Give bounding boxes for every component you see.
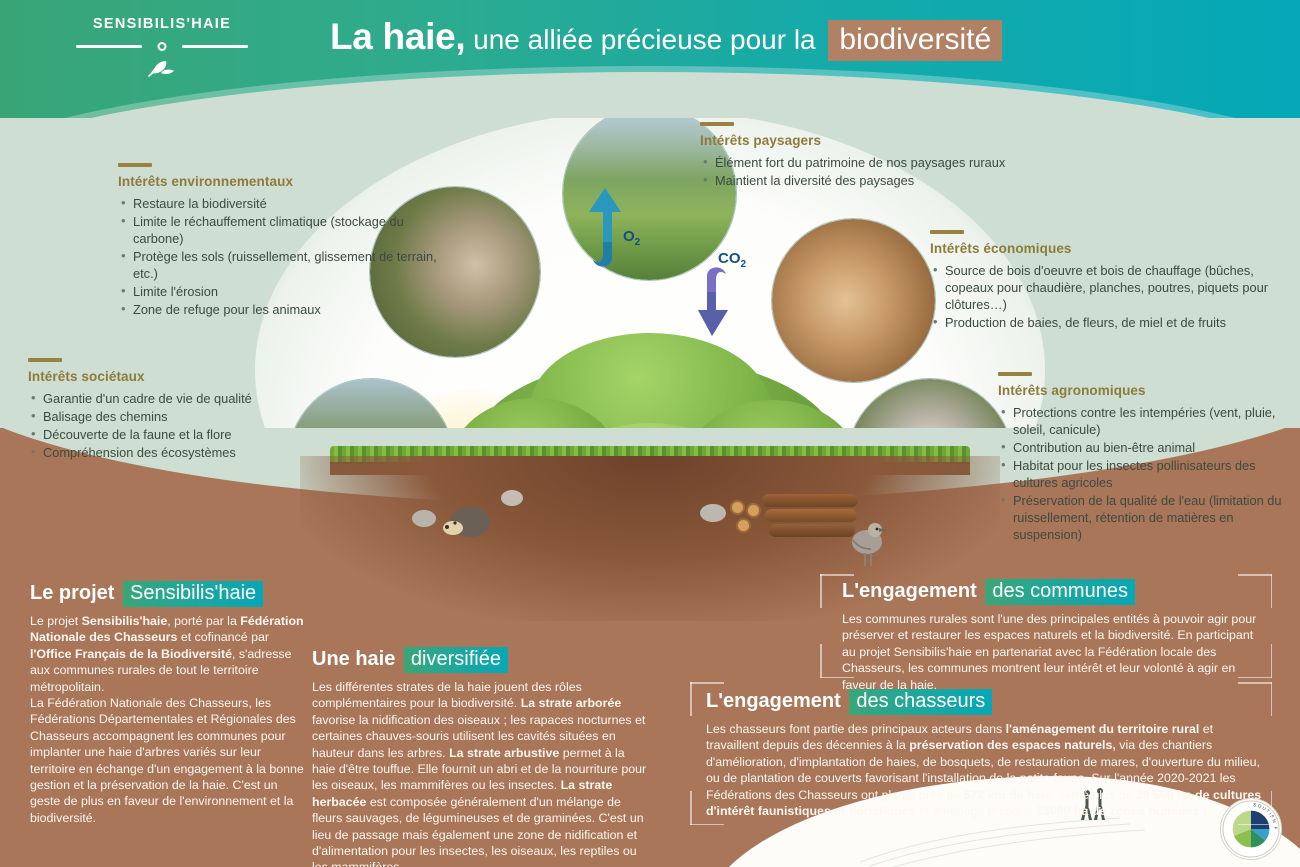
heading-highlight: diversifiée	[404, 647, 508, 673]
stone-3	[700, 504, 726, 522]
accent-bar	[700, 122, 734, 126]
frame-corner-br-v	[1271, 791, 1273, 825]
list-item: Limite l'érosion	[118, 283, 448, 300]
rule-dot-icon	[158, 42, 167, 51]
block-body: Les communes rurales sont l'une des prin…	[842, 611, 1267, 693]
o2-label: O2	[623, 228, 640, 248]
list-item: Balisage des chemins	[28, 408, 328, 425]
list-item: Source de bois d'oeuvre et bois de chauf…	[930, 262, 1275, 313]
list-item: Préservation de la qualité de l'eau (lim…	[998, 492, 1288, 543]
photo-cut-logs-image	[772, 219, 935, 382]
heading-lead: Le projet	[30, 582, 114, 604]
block-interets-agronomiques: Intérêts agronomiques Protections contre…	[998, 372, 1288, 544]
block-heading: Le projet Sensibilis'haie	[30, 582, 308, 605]
block-une-haie-diversifiee: Une haie diversifiée Les différentes str…	[312, 648, 647, 867]
block-list: Élément fort du patrimoine de nos paysag…	[700, 154, 1040, 189]
list-item: Élément fort du patrimoine de nos paysag…	[700, 154, 1040, 171]
list-item: Contribution au bien-être animal	[998, 439, 1288, 456]
block-engagement-chasseurs: L'engagement des chasseurs Les chasseurs…	[706, 690, 1262, 819]
block-interets-societaux: Intérêts sociétaux Garantie d'un cadre d…	[28, 358, 328, 462]
heading-lead: Une haie	[312, 648, 395, 670]
list-item: Compréhension des écosystèmes	[28, 444, 328, 461]
accent-bar	[930, 230, 964, 234]
brand-logo: SENSIBILIS'HAIE	[62, 16, 262, 82]
log-ends	[730, 500, 764, 536]
block-le-projet: Le projet Sensibilis'haie Le projet Sens…	[30, 582, 308, 826]
block-list: Restaure la biodiversité Limite le récha…	[118, 195, 448, 318]
frame-corner-bl-v	[820, 644, 822, 678]
page-header: SENSIBILIS'HAIE La haie, une alliée préc…	[0, 0, 1300, 118]
list-item: Protège les sols (ruissellement, glissem…	[118, 248, 448, 282]
block-list: Garantie d'un cadre de vie de qualité Ba…	[28, 390, 328, 461]
block-heading: L'engagement des communes	[842, 580, 1267, 603]
list-item: Découverte de la faune et la flore	[28, 426, 328, 443]
block-body: Le projet Sensibilis'haie, porté par la …	[30, 613, 308, 826]
block-title: Intérêts économiques	[930, 241, 1275, 256]
block-title: Intérêts environnementaux	[118, 174, 448, 189]
frame-corner-tl-v	[820, 574, 822, 608]
list-item: Zone de refuge pour les animaux	[118, 301, 448, 318]
frame-corner-tr-h	[1238, 574, 1272, 576]
block-interets-paysagers: Intérêts paysagers Élément fort du patri…	[700, 122, 1040, 190]
title-highlight: biodiversité	[828, 20, 1002, 61]
block-title: Intérêts sociétaux	[28, 369, 328, 384]
heading-highlight: des communes	[985, 579, 1135, 605]
list-item: Restaure la biodiversité	[118, 195, 448, 212]
frame-corner-tr-v	[1271, 682, 1273, 716]
block-body: Les différentes strates de la haie jouen…	[312, 679, 647, 867]
frame-corner-tl-v	[690, 682, 692, 716]
frame-corner-tl-h	[820, 574, 854, 576]
block-list: Source de bois d'oeuvre et bois de chauf…	[930, 262, 1275, 331]
stone-1	[412, 510, 436, 527]
frame-corner-br-v	[1271, 644, 1273, 678]
leaf-icon	[62, 58, 262, 82]
heading-highlight: Sensibilis'haie	[123, 581, 263, 607]
block-list: Protections contre les intempéries (vent…	[998, 404, 1288, 543]
block-heading: Une haie diversifiée	[312, 648, 647, 671]
rule-right	[182, 45, 248, 48]
rule-left	[76, 45, 142, 48]
page-title: La haie, une alliée précieuse pour la bi…	[330, 16, 1002, 58]
photo-cut-logs	[771, 218, 936, 383]
accent-bar	[998, 372, 1032, 376]
list-item: Garantie d'un cadre de vie de qualité	[28, 390, 328, 407]
infographic-root: SENSIBILIS'HAIE La haie, une alliée préc…	[0, 0, 1300, 867]
heading-lead: L'engagement	[706, 690, 841, 712]
brand-name: SENSIBILIS'HAIE	[62, 16, 262, 32]
frame-corner-br-h	[1238, 824, 1272, 826]
list-item: Production de baies, de fleurs, de miel …	[930, 314, 1275, 331]
co2-arrow-group: CO2	[690, 258, 750, 348]
log-pile	[762, 494, 858, 540]
list-item: Maintient la diversité des paysages	[700, 172, 1040, 189]
brand-rule	[62, 41, 262, 51]
list-item: Protections contre les intempéries (vent…	[998, 404, 1288, 438]
title-rest: une alliée précieuse pour la	[465, 24, 823, 55]
block-title: Intérêts agronomiques	[998, 383, 1288, 398]
block-engagement-communes: L'engagement des communes Les communes r…	[842, 580, 1267, 693]
frame-corner-tr-v	[1271, 574, 1273, 608]
title-bold: La haie,	[330, 16, 465, 57]
accent-bar	[118, 163, 152, 167]
heading-lead: L'engagement	[842, 580, 977, 602]
block-body: Les chasseurs font partie des principaux…	[706, 721, 1262, 819]
leaf-icon-svg	[147, 58, 177, 78]
block-interets-environnementaux: Intérêts environnementaux Restaure la bi…	[118, 163, 448, 319]
hedgehog-icon	[440, 498, 500, 540]
frame-corner-bl-v	[690, 791, 692, 825]
block-title: Intérêts paysagers	[700, 133, 1040, 148]
heading-highlight: des chasseurs	[849, 689, 992, 715]
accent-bar	[28, 358, 62, 362]
list-item: Habitat pour les insectes pollinisateurs…	[998, 457, 1288, 491]
co2-label: CO2	[718, 250, 746, 270]
o2-arrow-group: O2	[575, 180, 635, 280]
frame-corner-tl-h	[690, 682, 724, 684]
block-interets-economiques: Intérêts économiques Source de bois d'oe…	[930, 230, 1275, 332]
co2-arrow-down-icon	[690, 258, 750, 343]
frame-corner-bl-h	[690, 824, 724, 826]
block-heading: L'engagement des chasseurs	[706, 690, 1262, 713]
stone-2	[501, 490, 523, 506]
list-item: Limite le réchauffement climatique (stoc…	[118, 213, 448, 247]
